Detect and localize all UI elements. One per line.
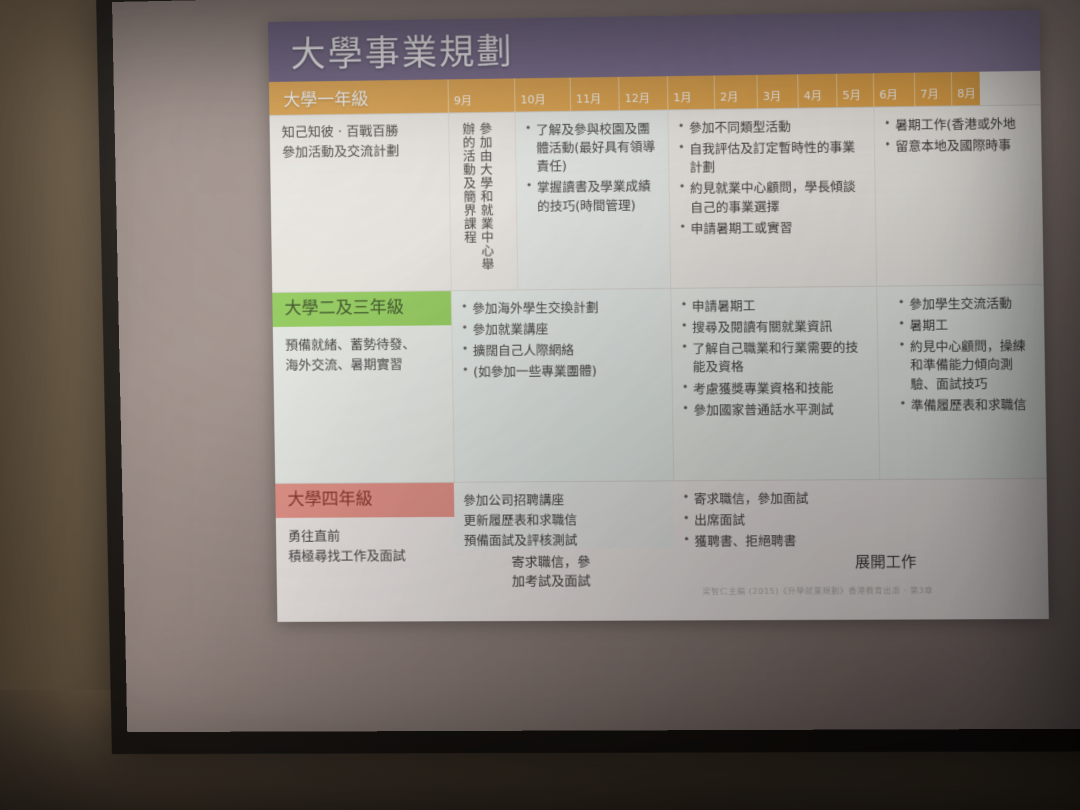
month-header-apr: 4月 <box>797 74 836 108</box>
table-row-year23: 大學二及三年級 預備就緒、蓄勢待發、 海外交流、暑期實習 參加海外學生交換計劃 … <box>272 285 1046 484</box>
year23-summary: 大學二及三年級 預備就緒、蓄勢待發、 海外交流、暑期實習 <box>272 291 454 483</box>
list-item: 約見中心顧問，操練和準備能力傾向測驗、面試技巧 <box>899 337 1038 393</box>
year1-cell-jun-aug: 暑期工作(香港或外地 留意本地及國際時事 <box>873 105 1043 285</box>
list-item: 參加國家普通話水平測試 <box>682 400 870 420</box>
year23-summary-text: 預備就緒、蓄勢待發、 海外交流、暑期實習 <box>273 325 452 385</box>
footer-apply-note: 寄求職信，參 加考試及面試 <box>455 548 677 621</box>
month-header-jan: 1月 <box>667 76 714 110</box>
year1-cell-jan-may: 參加不同類型活動 自我評估及訂定暫時性的事業計劃 約見就業中心顧問，學長傾談自己… <box>667 108 876 288</box>
row-header-year4: 大學四年級 <box>275 483 454 518</box>
slide-canvas: 大學事業規劃 大學一年級 9月 10月 11月 12月 1月 2月 3月 4月 … <box>268 10 1049 622</box>
list-item: 參加就業講座 <box>461 319 663 339</box>
list-item: 寄求職信，參加面試 <box>683 489 872 508</box>
month-header-dec: 12月 <box>618 76 667 110</box>
list-item: 約見就業中心顧問，學長傾談自己的事業選擇 <box>679 178 867 217</box>
year23-cell-jan-may: 申請暑期工 搜尋及閱讀有關就業資訊 了解自己職業和行業需要的技能及資格 考慮獲獎… <box>670 287 879 481</box>
plain-line: 參加公司招聘講座 <box>463 490 666 509</box>
list-item: 擴闊自己人際網絡 <box>462 341 664 361</box>
list-item: 暑期工 <box>898 316 1036 336</box>
month-header-sep: 9月 <box>447 78 514 112</box>
year1-cell-oct-dec: 了解及參與校園及團體活動(最好具有領導責任) 掌握讀書及學業成績的技巧(時間管理… <box>515 110 671 289</box>
year23-summary-line2: 海外交流、暑期實習 <box>285 355 442 377</box>
year23-cell-sep-dec: 參加海外學生交換計劃 參加就業講座 擴闊自己人際網絡 (如參加一些專業團體) <box>451 289 673 482</box>
year4-summary-line1: 勇往直前 <box>288 526 445 547</box>
year1-cell-sep: 參加由大學和就業中心舉辦的活動及簡界課程 <box>448 113 517 291</box>
list-item: 考慮獲獎專業資格和技能 <box>682 378 870 398</box>
year23-summary-line1: 預備就緒、蓄勢待發、 <box>285 335 442 357</box>
lecture-room-background: 大學事業規劃 大學一年級 9月 10月 11月 12月 1月 2月 3月 4月 … <box>0 0 1080 810</box>
footer-spacer <box>276 549 456 622</box>
row-header-year23: 大學二及三年級 <box>272 291 451 326</box>
list-item: 參加海外學生交換計劃 <box>461 298 663 318</box>
year4-cell-jun-aug <box>879 479 1047 547</box>
month-header-oct: 10月 <box>514 78 570 112</box>
list-item: 了解自己職業和行業需要的技能及資格 <box>681 339 869 377</box>
month-header-aug: 8月 <box>951 72 980 106</box>
year1-cell-sep-text: 參加由大學和就業中心舉辦的活動及簡界課程 <box>458 122 494 273</box>
list-item: 暑期工作(香港或外地 <box>884 115 1033 135</box>
footer-right: 展開工作 梁智仁主編 (2015)《升學就業規劃》香港教育出版 · 第3章 <box>675 546 1049 620</box>
year4-cell-sep-dec: 參加公司招聘講座 更新履歷表和求職信 預備面試及評核測試 <box>454 481 674 549</box>
projected-slide: 大學事業規劃 大學一年級 9月 10月 11月 12月 1月 2月 3月 4月 … <box>268 10 1049 622</box>
month-header-nov: 11月 <box>570 77 619 111</box>
list-item: 參加學生交流活動 <box>898 294 1036 314</box>
year4-cell-jan-may: 寄求職信，參加面試 出席面試 獲聘書、拒絕聘書 <box>673 480 880 548</box>
list-item: 掌握讀書及學業成績的技巧(時間管理) <box>526 177 661 215</box>
slide-footer: 寄求職信，參 加考試及面試 展開工作 梁智仁主編 (2015)《升學就業規劃》香… <box>276 546 1049 622</box>
footer-citation: 梁智仁主編 (2015)《升學就業規劃》香港教育出版 · 第3章 <box>702 585 933 597</box>
year4-summary: 大學四年級 勇往直前 積極尋找工作及面試 <box>275 483 455 550</box>
list-item: 準備履歷表和求職信 <box>899 395 1037 414</box>
month-header-mar: 3月 <box>756 74 797 108</box>
footer-apply-note-line1: 寄求職信，參 <box>511 554 675 574</box>
list-item: 自我評估及訂定暫時性的事業計劃 <box>678 138 866 177</box>
footer-apply-note-line2: 加考試及面試 <box>512 573 676 593</box>
list-item: 申請暑期工 <box>681 296 869 316</box>
year1-summary-line1: 知己知彼 · 百戰百勝 <box>282 122 439 144</box>
footer-start-work: 展開工作 <box>855 551 917 573</box>
year23-cell-jun-aug: 參加學生交流活動 暑期工 約見中心顧問，操練和準備能力傾向測驗、面試技巧 準備履… <box>876 285 1046 479</box>
list-item: 搜尋及閱讀有關就業資訊 <box>681 317 869 337</box>
month-header-jun: 6月 <box>873 73 915 107</box>
slide-title: 大學事業規劃 <box>268 23 514 78</box>
list-item: (如參加一些專業團體) <box>462 362 664 382</box>
list-item: 留意本地及國際時事 <box>884 136 1033 156</box>
list-item: 出席面試 <box>683 511 872 530</box>
month-header-may: 5月 <box>836 73 873 107</box>
slide-header: 大學事業規劃 <box>268 10 1040 82</box>
list-item: 申請暑期工或實習 <box>679 218 867 238</box>
year1-summary-line2: 參加活動及交流計劃 <box>282 141 439 163</box>
table-row-year1: 知己知彼 · 百戰百勝 參加活動及交流計劃 參加由大學和就業中心舉辦的活動及簡界… <box>269 105 1043 293</box>
plain-line: 更新履歷表和求職信 <box>463 511 666 530</box>
year1-summary: 知己知彼 · 百戰百勝 參加活動及交流計劃 <box>269 114 450 292</box>
month-header-jul: 7月 <box>914 72 951 106</box>
list-item: 參加不同類型活動 <box>678 117 866 138</box>
month-header-feb: 2月 <box>714 75 757 109</box>
list-item: 了解及參與校園及團體活動(最好具有領導責任) <box>525 120 661 176</box>
table-row-year4: 大學四年級 勇往直前 積極尋找工作及面試 參加公司招聘講座 更新履歷表和求職信 … <box>275 479 1047 550</box>
row-header-year1: 大學一年級 <box>269 79 448 115</box>
